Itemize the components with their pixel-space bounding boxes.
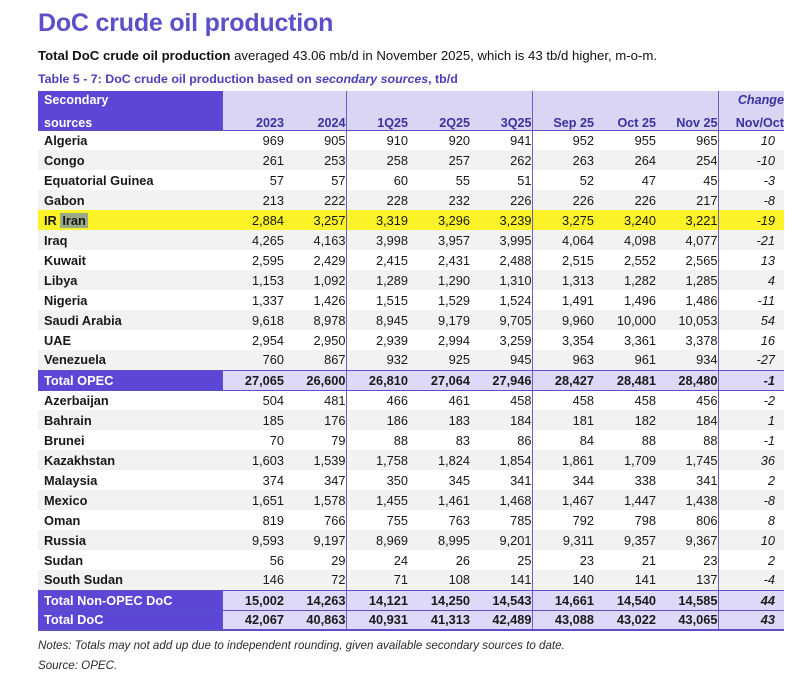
header-secondary-line2: sources <box>38 110 222 130</box>
header-col-1q25: 1Q25 <box>346 110 408 130</box>
table-row[interactable]: Brunei7079888386848888-1 <box>38 430 784 450</box>
cell-oct-25: 14,540 <box>594 590 656 610</box>
cell-2024: 9,197 <box>284 530 346 550</box>
cell-sep-25: 1,313 <box>532 270 594 290</box>
row-label: UAE <box>38 330 222 350</box>
row-label: Nigeria <box>38 290 222 310</box>
cell-3q25: 86 <box>470 430 532 450</box>
cell-nov-25: 965 <box>656 130 718 150</box>
row-label: Saudi Arabia <box>38 310 222 330</box>
cell-2q25: 41,313 <box>408 610 470 630</box>
cell-sep-25: 140 <box>532 570 594 590</box>
cell-3q25: 25 <box>470 550 532 570</box>
cell-3q25: 945 <box>470 350 532 370</box>
cell-sep-25: 2,515 <box>532 250 594 270</box>
cell-change: -8 <box>718 490 784 510</box>
row-label: South Sudan <box>38 570 222 590</box>
cell-nov-25: 3,221 <box>656 210 718 230</box>
cell-3q25: 9,705 <box>470 310 532 330</box>
cell-change: 1 <box>718 410 784 430</box>
header-spacer-2q25 <box>408 91 470 110</box>
table-row[interactable]: Mexico1,6511,5781,4551,4611,4681,4671,44… <box>38 490 784 510</box>
cell-oct-25: 182 <box>594 410 656 430</box>
cell-change: -4 <box>718 570 784 590</box>
cell-2q25: 8,995 <box>408 530 470 550</box>
cell-2q25: 26 <box>408 550 470 570</box>
row-label: Kazakhstan <box>38 450 222 470</box>
table-row[interactable]: Total DoC42,06740,86340,93141,31342,4894… <box>38 610 784 630</box>
cell-sep-25: 4,064 <box>532 230 594 250</box>
row-label: Kuwait <box>38 250 222 270</box>
cell-2q25: 3,957 <box>408 230 470 250</box>
cell-oct-25: 3,361 <box>594 330 656 350</box>
cell-nov-25: 43,065 <box>656 610 718 630</box>
table-row[interactable]: Venezuela760867932925945963961934-27 <box>38 350 784 370</box>
summary-line: Total DoC crude oil production averaged … <box>38 47 770 64</box>
cell-2023: 27,065 <box>222 370 284 390</box>
cell-sep-25: 952 <box>532 130 594 150</box>
table-row[interactable]: Bahrain1851761861831841811821841 <box>38 410 784 430</box>
cell-2024: 14,263 <box>284 590 346 610</box>
cell-3q25: 9,201 <box>470 530 532 550</box>
cell-2023: 1,337 <box>222 290 284 310</box>
cell-1q25: 24 <box>346 550 408 570</box>
row-label: Brunei <box>38 430 222 450</box>
header-col-3q25: 3Q25 <box>470 110 532 130</box>
cell-change: -10 <box>718 150 784 170</box>
cell-1q25: 2,415 <box>346 250 408 270</box>
cell-sep-25: 23 <box>532 550 594 570</box>
cell-3q25: 1,524 <box>470 290 532 310</box>
table-row[interactable]: Kazakhstan1,6031,5391,7581,8241,8541,861… <box>38 450 784 470</box>
row-label: Sudan <box>38 550 222 570</box>
table-row[interactable]: Equatorial Guinea5757605551524745-3 <box>38 170 784 190</box>
table-row[interactable]: Congo261253258257262263264254-10 <box>38 150 784 170</box>
cell-oct-25: 3,240 <box>594 210 656 230</box>
cell-sep-25: 792 <box>532 510 594 530</box>
cell-sep-25: 1,467 <box>532 490 594 510</box>
cell-oct-25: 264 <box>594 150 656 170</box>
cell-2024: 1,578 <box>284 490 346 510</box>
cell-2q25: 14,250 <box>408 590 470 610</box>
cell-change: -2 <box>718 390 784 410</box>
table-row[interactable]: South Sudan1467271108141140141137-4 <box>38 570 784 590</box>
cell-2024: 2,950 <box>284 330 346 350</box>
cell-2024: 40,863 <box>284 610 346 630</box>
cell-1q25: 3,998 <box>346 230 408 250</box>
cell-2q25: 257 <box>408 150 470 170</box>
cell-oct-25: 1,282 <box>594 270 656 290</box>
cell-sep-25: 43,088 <box>532 610 594 630</box>
cell-2023: 56 <box>222 550 284 570</box>
table-row[interactable]: Total Non-OPEC DoC15,00214,26314,12114,2… <box>38 590 784 610</box>
cell-2q25: 1,461 <box>408 490 470 510</box>
cell-nov-25: 1,745 <box>656 450 718 470</box>
row-label: Venezuela <box>38 350 222 370</box>
cell-oct-25: 9,357 <box>594 530 656 550</box>
cell-2023: 70 <box>222 430 284 450</box>
cell-2024: 4,163 <box>284 230 346 250</box>
row-label: Equatorial Guinea <box>38 170 222 190</box>
cell-oct-25: 1,447 <box>594 490 656 510</box>
cell-nov-25: 1,285 <box>656 270 718 290</box>
cell-1q25: 40,931 <box>346 610 408 630</box>
row-label: Malaysia <box>38 470 222 490</box>
cell-1q25: 1,289 <box>346 270 408 290</box>
row-label: Oman <box>38 510 222 530</box>
cell-nov-25: 254 <box>656 150 718 170</box>
cell-change: -19 <box>718 210 784 230</box>
cell-change: -11 <box>718 290 784 310</box>
cell-2023: 1,603 <box>222 450 284 470</box>
header-col-2q25: 2Q25 <box>408 110 470 130</box>
header-spacer-sep25 <box>532 91 594 110</box>
cell-oct-25: 955 <box>594 130 656 150</box>
table-row[interactable]: Russia9,5939,1978,9698,9959,2019,3119,35… <box>38 530 784 550</box>
cell-change: 4 <box>718 270 784 290</box>
cell-1q25: 186 <box>346 410 408 430</box>
cell-3q25: 785 <box>470 510 532 530</box>
cell-2q25: 27,064 <box>408 370 470 390</box>
header-spacer-nov25 <box>656 91 718 110</box>
cell-oct-25: 10,000 <box>594 310 656 330</box>
table-row[interactable]: Nigeria1,3371,4261,5151,5291,5241,4911,4… <box>38 290 784 310</box>
cell-oct-25: 28,481 <box>594 370 656 390</box>
cell-3q25: 1,310 <box>470 270 532 290</box>
cell-nov-25: 3,378 <box>656 330 718 350</box>
cell-2024: 222 <box>284 190 346 210</box>
cell-change: -21 <box>718 230 784 250</box>
cell-2024: 1,092 <box>284 270 346 290</box>
cell-3q25: 27,946 <box>470 370 532 390</box>
cell-sep-25: 1,861 <box>532 450 594 470</box>
cell-2q25: 183 <box>408 410 470 430</box>
cell-nov-25: 217 <box>656 190 718 210</box>
cell-3q25: 14,543 <box>470 590 532 610</box>
table-notes: Notes: Totals may not add up due to inde… <box>38 638 770 654</box>
cell-sep-25: 226 <box>532 190 594 210</box>
cell-2q25: 3,296 <box>408 210 470 230</box>
cell-2024: 29 <box>284 550 346 570</box>
cell-2q25: 920 <box>408 130 470 150</box>
cell-sep-25: 3,275 <box>532 210 594 230</box>
cell-sep-25: 28,427 <box>532 370 594 390</box>
cell-2024: 347 <box>284 470 346 490</box>
header-change-bottom: Nov/Oct <box>718 110 784 130</box>
cell-nov-25: 28,480 <box>656 370 718 390</box>
cell-2023: 261 <box>222 150 284 170</box>
row-label: Libya <box>38 270 222 290</box>
table-row[interactable]: Kuwait2,5952,4292,4152,4312,4882,5152,55… <box>38 250 784 270</box>
cell-sep-25: 181 <box>532 410 594 430</box>
cell-sep-25: 3,354 <box>532 330 594 350</box>
table-caption: Table 5 - 7: DoC crude oil production ba… <box>38 72 770 87</box>
row-label: Algeria <box>38 130 222 150</box>
cell-1q25: 1,515 <box>346 290 408 310</box>
caption-prefix: Table 5 - 7: DoC crude oil production ba… <box>38 72 315 86</box>
cell-change: 10 <box>718 130 784 150</box>
caption-suffix: , tb/d <box>428 72 458 86</box>
header-row-bottom: sources 2023 2024 1Q25 2Q25 3Q25 Sep 25 … <box>38 110 784 130</box>
cell-nov-25: 88 <box>656 430 718 450</box>
cell-1q25: 910 <box>346 130 408 150</box>
cell-nov-25: 184 <box>656 410 718 430</box>
caption-italic: secondary sources <box>315 72 428 86</box>
cell-change: 2 <box>718 550 784 570</box>
cell-2024: 1,426 <box>284 290 346 310</box>
cell-sep-25: 1,491 <box>532 290 594 310</box>
cell-2023: 15,002 <box>222 590 284 610</box>
cell-2024: 8,978 <box>284 310 346 330</box>
table-header: Secondary Change sources 2023 2024 1Q25 … <box>38 91 784 130</box>
cell-2024: 57 <box>284 170 346 190</box>
cell-2023: 2,595 <box>222 250 284 270</box>
cell-3q25: 42,489 <box>470 610 532 630</box>
cell-2q25: 461 <box>408 390 470 410</box>
cell-2q25: 345 <box>408 470 470 490</box>
cell-nov-25: 10,053 <box>656 310 718 330</box>
cell-3q25: 1,468 <box>470 490 532 510</box>
cell-sep-25: 344 <box>532 470 594 490</box>
cell-1q25: 350 <box>346 470 408 490</box>
table-row[interactable]: Azerbaijan504481466461458458458456-2 <box>38 390 784 410</box>
table-row[interactable]: Iraq4,2654,1633,9983,9573,9954,0644,0984… <box>38 230 784 250</box>
cell-nov-25: 45 <box>656 170 718 190</box>
header-row-top: Secondary Change <box>38 91 784 110</box>
cell-nov-25: 934 <box>656 350 718 370</box>
cell-3q25: 184 <box>470 410 532 430</box>
cell-1q25: 258 <box>346 150 408 170</box>
cell-nov-25: 23 <box>656 550 718 570</box>
cell-3q25: 226 <box>470 190 532 210</box>
cell-change: 43 <box>718 610 784 630</box>
cell-2023: 42,067 <box>222 610 284 630</box>
row-label: Iraq <box>38 230 222 250</box>
cell-3q25: 51 <box>470 170 532 190</box>
cell-sep-25: 9,311 <box>532 530 594 550</box>
document-page: DoC crude oil production Total DoC crude… <box>0 0 800 654</box>
cell-change: 10 <box>718 530 784 550</box>
header-col-oct25: Oct 25 <box>594 110 656 130</box>
cell-1q25: 8,945 <box>346 310 408 330</box>
header-spacer-1q25 <box>346 91 408 110</box>
header-spacer-oct25 <box>594 91 656 110</box>
cell-2q25: 925 <box>408 350 470 370</box>
cell-oct-25: 226 <box>594 190 656 210</box>
cell-2023: 213 <box>222 190 284 210</box>
cell-2023: 2,884 <box>222 210 284 230</box>
row-label: Gabon <box>38 190 222 210</box>
cell-2023: 374 <box>222 470 284 490</box>
table-body: Algeria96990591092094195295596510Congo26… <box>38 130 784 630</box>
cell-change: 8 <box>718 510 784 530</box>
cell-2q25: 1,290 <box>408 270 470 290</box>
cell-oct-25: 1,496 <box>594 290 656 310</box>
cell-2024: 253 <box>284 150 346 170</box>
cell-nov-25: 2,565 <box>656 250 718 270</box>
table-row[interactable]: Saudi Arabia9,6188,9788,9459,1799,7059,9… <box>38 310 784 330</box>
cell-change: 16 <box>718 330 784 350</box>
cell-1q25: 466 <box>346 390 408 410</box>
cell-1q25: 60 <box>346 170 408 190</box>
summary-strong: Total DoC crude oil production <box>38 48 230 63</box>
cell-3q25: 2,488 <box>470 250 532 270</box>
cell-2q25: 763 <box>408 510 470 530</box>
cell-nov-25: 456 <box>656 390 718 410</box>
cell-3q25: 3,259 <box>470 330 532 350</box>
cell-oct-25: 458 <box>594 390 656 410</box>
cell-change: -27 <box>718 350 784 370</box>
selected-text: Iran <box>60 213 87 228</box>
cell-nov-25: 4,077 <box>656 230 718 250</box>
row-label: Bahrain <box>38 410 222 430</box>
cell-2q25: 2,431 <box>408 250 470 270</box>
cell-2024: 79 <box>284 430 346 450</box>
cell-2024: 1,539 <box>284 450 346 470</box>
table-row[interactable]: Libya1,1531,0921,2891,2901,3101,3131,282… <box>38 270 784 290</box>
cell-1q25: 71 <box>346 570 408 590</box>
summary-rest: averaged 43.06 mb/d in November 2025, wh… <box>230 48 657 63</box>
cell-2023: 1,651 <box>222 490 284 510</box>
cell-oct-25: 961 <box>594 350 656 370</box>
cell-2023: 146 <box>222 570 284 590</box>
row-label: Russia <box>38 530 222 550</box>
cell-oct-25: 88 <box>594 430 656 450</box>
row-label: IR Iran <box>38 210 222 230</box>
header-change-top: Change <box>718 91 784 110</box>
cell-nov-25: 137 <box>656 570 718 590</box>
cell-2024: 867 <box>284 350 346 370</box>
cell-2023: 1,153 <box>222 270 284 290</box>
cell-change: -3 <box>718 170 784 190</box>
cell-nov-25: 1,438 <box>656 490 718 510</box>
row-label: Total OPEC <box>38 370 222 390</box>
cell-nov-25: 14,585 <box>656 590 718 610</box>
cell-2023: 504 <box>222 390 284 410</box>
cell-2q25: 2,994 <box>408 330 470 350</box>
cell-2q25: 1,824 <box>408 450 470 470</box>
cell-change: 2 <box>718 470 784 490</box>
header-spacer-3q25 <box>470 91 532 110</box>
cell-oct-25: 141 <box>594 570 656 590</box>
cell-2q25: 1,529 <box>408 290 470 310</box>
cell-3q25: 262 <box>470 150 532 170</box>
table-row[interactable]: IR Iran2,8843,2573,3193,2963,2393,2753,2… <box>38 210 784 230</box>
cell-oct-25: 47 <box>594 170 656 190</box>
header-secondary-line1: Secondary <box>38 91 222 110</box>
cell-2024: 905 <box>284 130 346 150</box>
cell-nov-25: 806 <box>656 510 718 530</box>
cell-change: -1 <box>718 370 784 390</box>
table-row[interactable]: Gabon213222228232226226226217-8 <box>38 190 784 210</box>
cell-2023: 4,265 <box>222 230 284 250</box>
cell-nov-25: 1,486 <box>656 290 718 310</box>
table-row[interactable]: Sudan56292426252321232 <box>38 550 784 570</box>
cell-1q25: 3,319 <box>346 210 408 230</box>
cell-sep-25: 963 <box>532 350 594 370</box>
cell-1q25: 2,939 <box>346 330 408 350</box>
table-row[interactable]: UAE2,9542,9502,9392,9943,2593,3543,3613,… <box>38 330 784 350</box>
cell-2023: 57 <box>222 170 284 190</box>
cell-3q25: 141 <box>470 570 532 590</box>
production-table: Secondary Change sources 2023 2024 1Q25 … <box>38 91 784 631</box>
page-title: DoC crude oil production <box>38 0 770 38</box>
cell-nov-25: 341 <box>656 470 718 490</box>
cell-2023: 2,954 <box>222 330 284 350</box>
cell-2023: 9,618 <box>222 310 284 330</box>
cell-sep-25: 9,960 <box>532 310 594 330</box>
cell-sep-25: 52 <box>532 170 594 190</box>
cell-1q25: 1,455 <box>346 490 408 510</box>
cell-3q25: 458 <box>470 390 532 410</box>
cell-2q25: 83 <box>408 430 470 450</box>
cell-sep-25: 14,661 <box>532 590 594 610</box>
cell-3q25: 341 <box>470 470 532 490</box>
cell-oct-25: 21 <box>594 550 656 570</box>
cell-change: -8 <box>718 190 784 210</box>
cell-1q25: 932 <box>346 350 408 370</box>
table-row[interactable]: Oman8197667557637857927988068 <box>38 510 784 530</box>
cell-2023: 9,593 <box>222 530 284 550</box>
cell-1q25: 26,810 <box>346 370 408 390</box>
row-label: Total Non-OPEC DoC <box>38 590 222 610</box>
cell-3q25: 3,239 <box>470 210 532 230</box>
cell-2024: 481 <box>284 390 346 410</box>
header-col-sep25: Sep 25 <box>532 110 594 130</box>
cell-oct-25: 338 <box>594 470 656 490</box>
row-label: Congo <box>38 150 222 170</box>
table-row[interactable]: Malaysia3743473503453413443383412 <box>38 470 784 490</box>
cell-2024: 72 <box>284 570 346 590</box>
cell-change: 54 <box>718 310 784 330</box>
cell-oct-25: 2,552 <box>594 250 656 270</box>
cell-2q25: 108 <box>408 570 470 590</box>
row-label: Azerbaijan <box>38 390 222 410</box>
cell-sep-25: 263 <box>532 150 594 170</box>
table-source: Source: OPEC. <box>38 658 770 674</box>
cell-1q25: 755 <box>346 510 408 530</box>
cell-sep-25: 84 <box>532 430 594 450</box>
cell-3q25: 3,995 <box>470 230 532 250</box>
cell-1q25: 1,758 <box>346 450 408 470</box>
header-spacer-2024 <box>284 91 346 110</box>
cell-oct-25: 1,709 <box>594 450 656 470</box>
header-col-2024: 2024 <box>284 110 346 130</box>
cell-change: 44 <box>718 590 784 610</box>
cell-2023: 969 <box>222 130 284 150</box>
cell-1q25: 14,121 <box>346 590 408 610</box>
header-col-2023: 2023 <box>222 110 284 130</box>
header-spacer-2023 <box>222 91 284 110</box>
cell-sep-25: 458 <box>532 390 594 410</box>
cell-1q25: 8,969 <box>346 530 408 550</box>
row-label: Total DoC <box>38 610 222 630</box>
cell-2q25: 232 <box>408 190 470 210</box>
cell-2023: 760 <box>222 350 284 370</box>
table-row[interactable]: Algeria96990591092094195295596510 <box>38 130 784 150</box>
cell-1q25: 88 <box>346 430 408 450</box>
table-row[interactable]: Total OPEC27,06526,60026,81027,06427,946… <box>38 370 784 390</box>
cell-change: -1 <box>718 430 784 450</box>
cell-2023: 185 <box>222 410 284 430</box>
cell-2024: 176 <box>284 410 346 430</box>
cell-2023: 819 <box>222 510 284 530</box>
cell-oct-25: 4,098 <box>594 230 656 250</box>
cell-1q25: 228 <box>346 190 408 210</box>
cell-2024: 766 <box>284 510 346 530</box>
cell-nov-25: 9,367 <box>656 530 718 550</box>
cell-oct-25: 798 <box>594 510 656 530</box>
